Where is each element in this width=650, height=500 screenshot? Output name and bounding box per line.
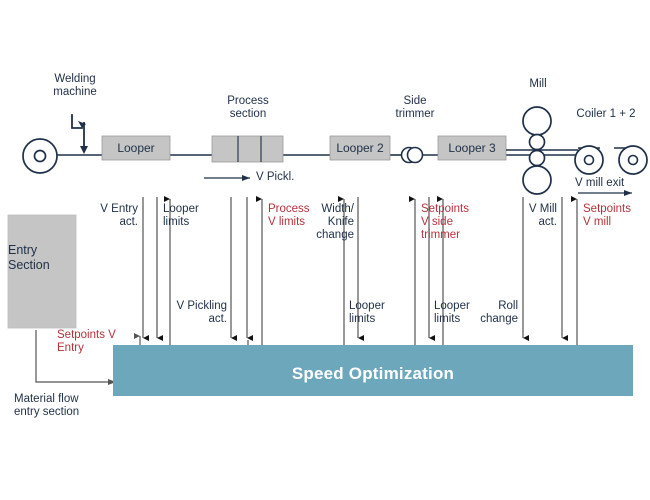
side-trimmer-label: Side trimmer <box>382 95 448 121</box>
looper2-box <box>330 136 390 160</box>
signal-label-v-entry-act: V Entry act. <box>72 203 138 229</box>
looper1-box <box>102 136 170 160</box>
uncoiler-icon <box>23 139 57 173</box>
v-pickl-label: V Pickl. <box>256 171 326 184</box>
signal-label-v-mill-act: V Mill act. <box>499 203 557 229</box>
signal-label-setpoints-v-side-trimmer: Setpoints V side trimmer <box>421 203 491 242</box>
coiler2-icon <box>614 146 647 174</box>
speed-optimization-label: Speed Optimization <box>113 352 633 396</box>
signal-label-setpoints-v-mill: Setpoints V mill <box>583 203 649 229</box>
entry-section-label: Entry Section <box>8 215 76 300</box>
mill-label: Mill <box>510 78 566 91</box>
diagram-canvas: Welding machine Process section Side tri… <box>0 0 650 500</box>
process-section-box <box>212 136 283 162</box>
v-mill-exit-label: V mill exit <box>575 177 650 190</box>
welding-machine-icon <box>72 115 88 154</box>
coiler-label: Coiler 1 + 2 <box>564 108 648 121</box>
signal-label-roll-change: Roll change <box>460 300 518 326</box>
looper3-box <box>438 136 506 160</box>
signal-label-v-pickling-act: V Pickling act. <box>163 300 227 326</box>
side-trimmer-icon <box>402 148 423 163</box>
signal-label-width-knife-change: Width/ Knife change <box>290 203 354 242</box>
material-flow-label: Material flow entry section <box>14 393 124 419</box>
signal-label-looper-limits-1: Looper limits <box>163 203 223 229</box>
process-section-label: Process section <box>208 95 288 121</box>
signal-label-looper-limits-2: Looper limits <box>349 300 409 326</box>
welding-machine-label: Welding machine <box>36 73 114 99</box>
coiler1-icon <box>575 146 603 174</box>
